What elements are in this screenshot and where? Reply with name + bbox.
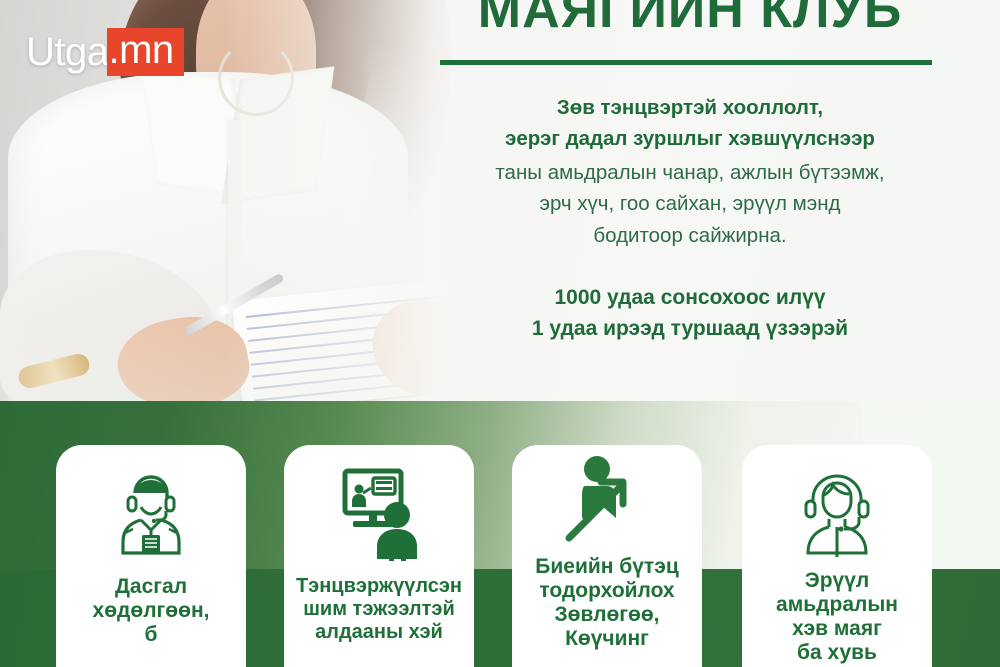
hero-body: таны амьдралын чанар, ажлын бүтээмж, эрч… (440, 157, 940, 252)
hero-lead-line-1: Зөв тэнцвэртэй хооллолт, (440, 93, 940, 124)
hero-cta-line-2: 1 удаа ирээд туршаад үзээрэй (440, 313, 940, 345)
hero-body-line-1: таны амьдралын чанар, ажлын бүтээмж, (440, 157, 940, 189)
hero-cta: 1000 удаа сонсохоос илүү 1 удаа ирээд ту… (440, 282, 940, 345)
growth-person-icon (559, 451, 655, 547)
feature-card-2-text: Тэнцвэржүүлсэн шим тэжээлтэй алдааны хэй (288, 575, 470, 643)
card4-line-3: хэв маяг (776, 617, 898, 641)
headset-doctor-icon (103, 459, 199, 567)
online-class-icon (327, 459, 431, 567)
hero-cta-line-1: 1000 удаа сонсохоос илүү (440, 282, 940, 314)
card2-line-2: шим тэжээлтэй (296, 598, 462, 621)
card4-line-1: Эрүүл (776, 569, 898, 593)
card1-line-3: б (93, 623, 210, 647)
card2-line-3: алдааны хэй (296, 621, 462, 644)
headset-support-icon (791, 461, 883, 561)
brand-logo[interactable]: Utga .mn (26, 28, 184, 76)
feature-card-1[interactable]: Дасгал хөдөлгөөн, б (56, 445, 246, 667)
card1-line-2: хөдөлгөөн, (93, 599, 210, 623)
logo-wordmark: Utga (26, 32, 109, 72)
features-band: Дасгал хөдөлгөөн, б (0, 401, 1000, 667)
card1-line-1: Дасгал (93, 575, 210, 599)
feature-cards: Дасгал хөдөлгөөн, б (0, 401, 1000, 667)
card3-line-1: Биеийн бүтэц (535, 555, 678, 579)
logo-tld-badge: .mn (107, 28, 184, 76)
hero-body-line-2: эрч хүч, гоо сайхан, эрүүл мэнд (440, 188, 940, 220)
feature-card-3-text: Биеийн бүтэц тодорхойлох Зөвлөгөө, Көүчи… (527, 555, 686, 651)
hero-body-line-3: бодитоор сайжирна. (440, 220, 940, 252)
card4-line-2: амьдралын (776, 593, 898, 617)
feature-card-2[interactable]: Тэнцвэржүүлсэн шим тэжээлтэй алдааны хэй (284, 445, 474, 667)
hero-lead-line-2: эерэг дадал зуршлыг хэвшүүлснээр (440, 124, 940, 155)
feature-card-4-text: Эрүүл амьдралын хэв маяг ба хувь (768, 569, 906, 665)
hero-section: Utga .mn МАЯГИЙН КЛУБ Зөв тэнцвэртэй хоо… (0, 0, 1000, 402)
card4-line-4: ба хувь (776, 641, 898, 665)
poster-root: Utga .mn МАЯГИЙН КЛУБ Зөв тэнцвэртэй хоо… (0, 0, 1000, 667)
feature-card-4[interactable]: Эрүүл амьдралын хэв маяг ба хувь (742, 445, 932, 667)
card2-line-1: Тэнцвэржүүлсэн (296, 575, 462, 598)
hero-lead: Зөв тэнцвэртэй хооллолт, эерэг дадал зур… (440, 93, 940, 155)
hero-copy: МАЯГИЙН КЛУБ Зөв тэнцвэртэй хооллолт, эе… (440, 0, 940, 345)
page-title: МАЯГИЙН КЛУБ (440, 0, 940, 36)
card3-line-4: Көүчинг (535, 627, 678, 651)
card3-line-2: тодорхойлох (535, 579, 678, 603)
card3-line-3: Зөвлөгөө, (535, 603, 678, 627)
feature-card-3[interactable]: Биеийн бүтэц тодорхойлох Зөвлөгөө, Көүчи… (512, 445, 702, 667)
feature-card-1-text: Дасгал хөдөлгөөн, б (85, 575, 218, 647)
title-divider (440, 60, 932, 65)
